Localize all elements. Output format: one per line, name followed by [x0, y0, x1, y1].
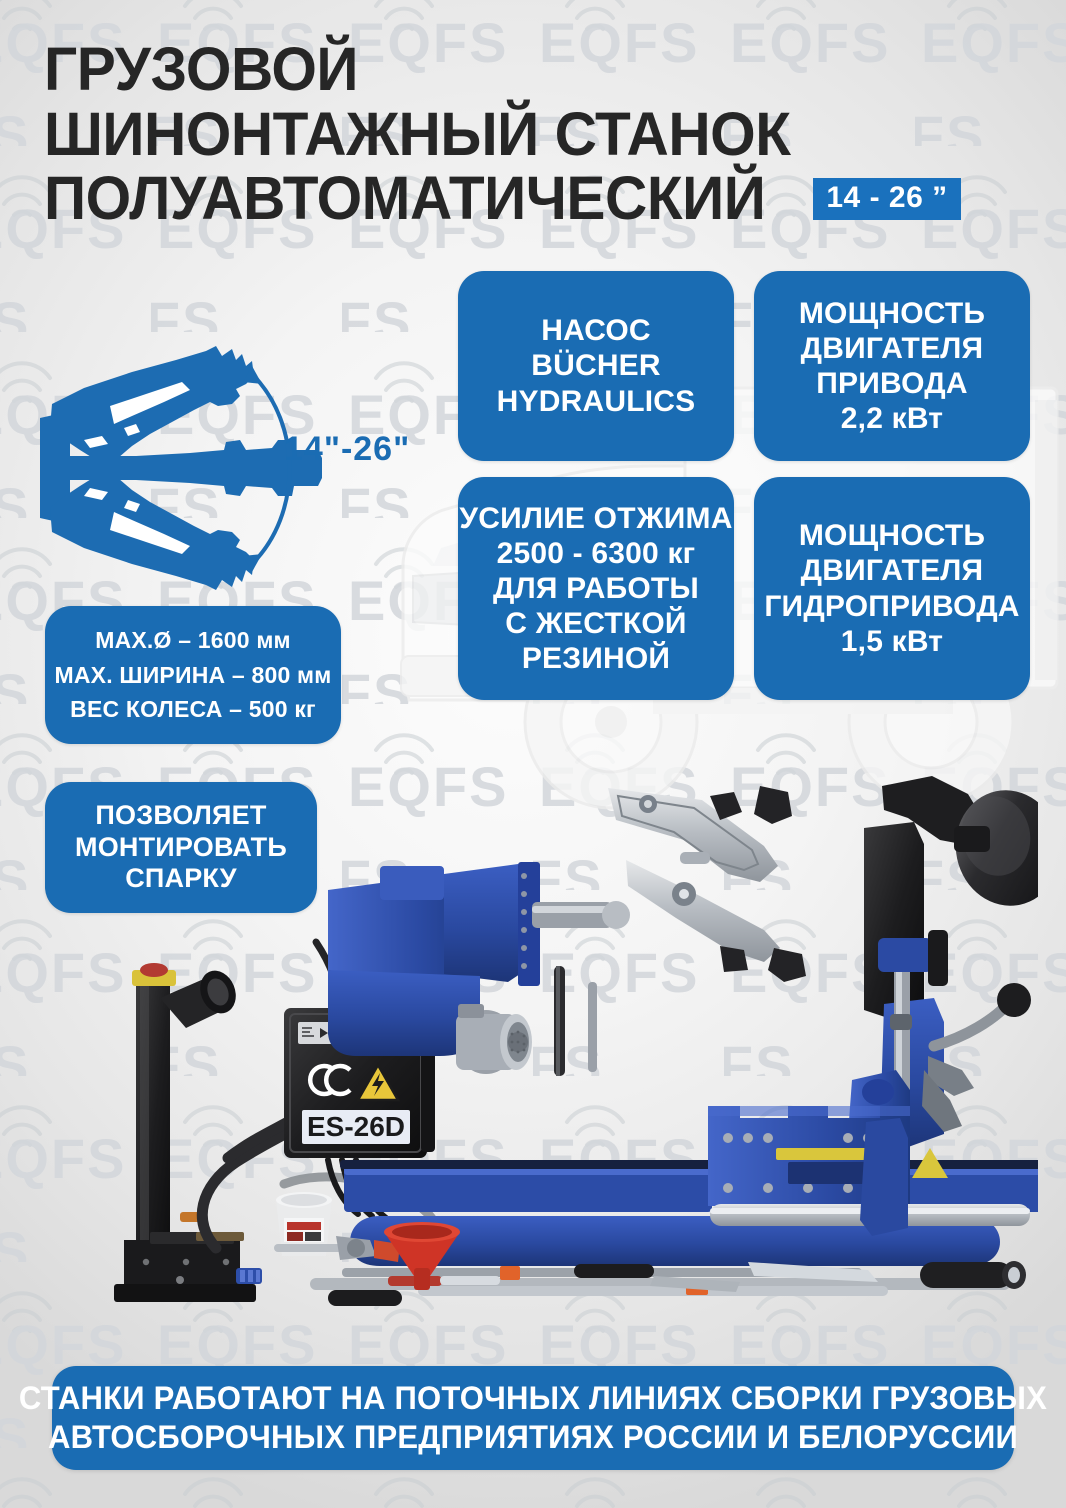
info-box-twin-wheel-line-1: ПОЗВОЛЯЕТ: [95, 800, 266, 832]
info-box-drive-motor-value: 2,2 кВт: [841, 401, 943, 436]
info-box-hydro-line-1: МОЩНОСТЬ: [799, 518, 985, 553]
info-box-pump-line-1: НАСОС: [541, 313, 651, 348]
bottom-banner-line-2: АВТОСБОРОЧНЫХ ПРЕДПРИЯТИЯХ РОССИИ И БЕЛО…: [48, 1418, 1018, 1457]
info-box-drive-motor-line-2: ДВИГАТЕЛЯ: [801, 331, 984, 366]
info-box-force-line-5: РЕЗИНОЙ: [522, 641, 670, 676]
info-box-dimensions-wheel-weight: ВЕС КОЛЕСА – 500 кг: [70, 692, 316, 727]
info-box-hydraulic-motor: МОЩНОСТЬ ДВИГАТЕЛЯ ГИДРОПРИВОДА 1,5 кВт: [754, 477, 1030, 700]
info-box-pump-line-3: HYDRAULICS: [497, 384, 696, 419]
info-box-dimensions-max-width: MAX. ШИРИНА – 800 мм: [55, 658, 332, 693]
info-box-hydro-value: 1,5 кВт: [841, 624, 943, 659]
info-box-twin-wheel: ПОЗВОЛЯЕТ МОНТИРОВАТЬ СПАРКУ: [45, 782, 317, 913]
mount-demount-arm: [608, 786, 806, 982]
gearbox-tower: [328, 862, 630, 1076]
info-box-hydro-line-3: ГИДРОПРИВОДА: [764, 589, 1019, 624]
info-box-twin-wheel-line-2: МОНТИРОВАТЬ: [75, 832, 287, 864]
info-box-hydro-line-2: ДВИГАТЕЛЯ: [801, 553, 984, 588]
info-box-pump-line-2: BÜCHER: [531, 348, 661, 383]
title-line-1: ГРУЗОВОЙ: [44, 40, 994, 99]
info-box-drive-motor-line-3: ПРИВОДА: [816, 366, 967, 401]
info-box-twin-wheel-line-3: СПАРКУ: [125, 863, 237, 895]
bead-breaker-tower: [848, 776, 1038, 1150]
info-box-pump: НАСОС BÜCHER HYDRAULICS: [458, 271, 734, 461]
page-title-block: ГРУЗОВОЙ ШИНОНТАЖНЫЙ СТАНОК ПОЛУАВТОМАТИ…: [44, 40, 1034, 228]
title-line-2: ШИНОНТАЖНЫЙ СТАНОК: [44, 105, 994, 164]
bottom-banner-line-1: СТАНКИ РАБОТАЮТ НА ПОТОЧНЫХ ЛИНИЯХ СБОРК…: [19, 1379, 1047, 1418]
info-box-drive-motor-line-1: МОЩНОСТЬ: [799, 296, 985, 331]
info-box-force-line-1: УСИЛИЕ ОТЖИМА: [459, 501, 732, 536]
info-box-force-value: 2500 - 6300 кг: [497, 536, 696, 571]
info-box-force-line-4: С ЖЕСТКОЙ: [505, 606, 686, 641]
machine-model-text: ES-26D: [307, 1111, 405, 1142]
info-box-force-line-3: ДЛЯ РАБОТЫ: [493, 571, 699, 606]
info-box-dimensions: MAX.Ø – 1600 мм MAX. ШИРИНА – 800 мм ВЕС…: [45, 606, 341, 744]
info-box-drive-motor: МОЩНОСТЬ ДВИГАТЕЛЯ ПРИВОДА 2,2 кВт: [754, 271, 1030, 461]
info-box-dimensions-max-diameter: MAX.Ø – 1600 мм: [95, 623, 291, 658]
pedal-stand: [114, 963, 256, 1302]
product-infographic-poster: EQFS: [0, 0, 1066, 1508]
pedal-foot: [236, 1268, 262, 1284]
info-box-bead-breaker-force: УСИЛИЕ ОТЖИМА 2500 - 6300 кг ДЛЯ РАБОТЫ …: [458, 477, 734, 700]
bottom-banner: СТАНКИ РАБОТАЮТ НА ПОТОЧНЫХ ЛИНИЯХ СБОРК…: [52, 1366, 1014, 1470]
clamp-range-label: 14"-26": [284, 430, 410, 469]
size-range-badge: 14 - 26 ”: [813, 178, 960, 220]
title-line-3: ПОЛУАВТОМАТИЧЕСКИЙ: [44, 169, 765, 228]
title-line-3-row: ПОЛУАВТОМАТИЧЕСКИЙ 14 - 26 ”: [44, 169, 1034, 228]
